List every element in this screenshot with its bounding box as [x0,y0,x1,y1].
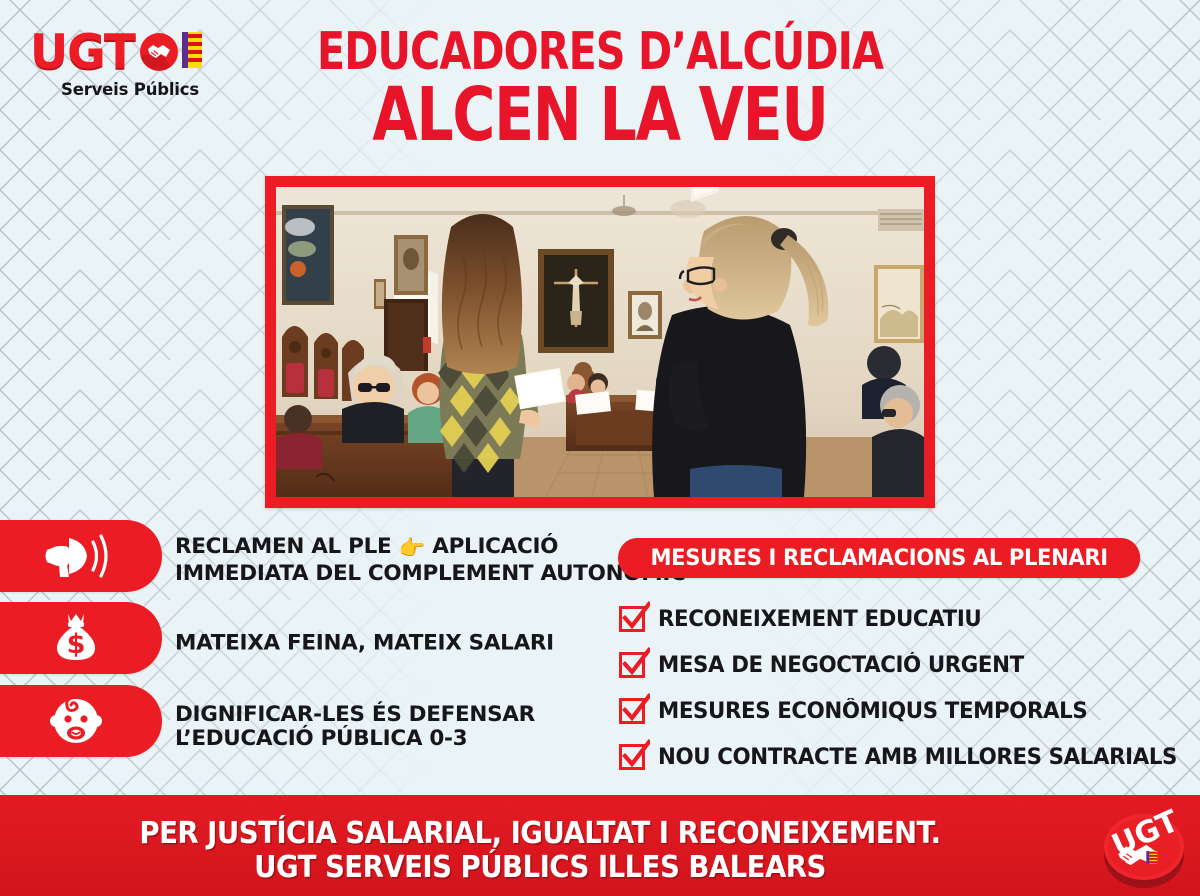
footer-band: PER JUSTÍCIA SALARIAL, IGUALTAT I RECONE… [0,795,1200,896]
demand-text: DIGNIFICAR-LES ÉS DEFENSAR L’EDUCACIÓ PÚ… [175,703,535,753]
measure-label: RECONEIXEMENT EDUCATIU [658,607,981,632]
demands-list: RECLAMEN AL PLE 👉 APLICACIÓ IMMEDIATA DE… [0,520,600,770]
megaphone-icon [41,528,111,585]
svg-text:$: $ [67,629,86,660]
ugt-logo: UGT [30,26,230,108]
demand-line-1b: APLICACIÓ [425,534,558,559]
measure-label: MESA DE NEGOCTACIÓ URGENT [658,653,1024,678]
headline: EDUCADORES D’ALCÚDIA ALCEN LA VEU [250,28,950,151]
demand-line-2: L’EDUCACIÓ PÚBLICA 0-3 [175,727,467,752]
ugt-wordmark: UGT [30,29,135,76]
checkbox-checked-icon[interactable] [618,739,658,776]
pointing-hand-icon: 👉 [399,537,425,562]
balearic-flag-icon [182,32,202,73]
demand-text: RECLAMEN AL PLE 👉 APLICACIÓ IMMEDIATA DE… [175,535,686,587]
logo-row: UGT [30,26,230,78]
footer-line-1: PER JUSTÍCIA SALARIAL, IGUALTAT I RECONE… [43,817,1037,851]
checkbox-checked-icon[interactable] [618,693,658,730]
handshake-icon [139,32,179,72]
photo-illustration [276,187,924,497]
measures-header: MESURES I RECLAMACIONS AL PLENARI [618,538,1140,578]
photo-frame [265,176,935,508]
measure-item[interactable]: MESURES ECONÔMIQUS TEMPORALS [618,688,1183,734]
demand-item: RECLAMEN AL PLE 👉 APLICACIÓ IMMEDIATA DE… [0,520,600,602]
footer-line-2: UGT SERVEIS PÚBLICS ILLES BALEARS [43,851,1037,885]
measure-label: MESURES ECONÔMIQUS TEMPORALS [658,699,1087,724]
ugt-coin-badge-icon: UGT [1096,801,1192,893]
checkbox-checked-icon[interactable] [618,601,658,638]
checkbox-checked-icon[interactable] [618,647,658,684]
measure-label: NOU CONTRACTE AMB MILLORES SALARIALS [658,745,1177,770]
logo-subtitle: Serveis Públics [30,80,230,99]
money-bag-icon: $ [48,608,104,669]
demand-text: MATEIXA FEINA, MATEIX SALARI [175,631,554,656]
headline-line-1: EDUCADORES D’ALCÚDIA [292,28,908,78]
demand-line-2: IMMEDIATA DEL COMPLEMENT AUTONÔMIC [175,561,686,586]
demand-line-1a: RECLAMEN AL PLE [175,534,399,559]
demand-line-1a: DIGNIFICAR-LES ÉS DEFENSAR [175,702,535,727]
measures-list: RECONEIXEMENT EDUCATIU MESA DE NEGOCTACI… [618,596,1183,780]
measure-item[interactable]: MESA DE NEGOCTACIÓ URGENT [618,642,1183,688]
measure-item[interactable]: RECONEIXEMENT EDUCATIU [618,596,1183,642]
demand-item: $ MATEIXA FEINA, MATEIX SALARI [0,602,600,685]
measure-item[interactable]: NOU CONTRACTE AMB MILLORES SALARIALS [618,734,1183,780]
demand-item: DIGNIFICAR-LES ÉS DEFENSAR L’EDUCACIÓ PÚ… [0,685,600,770]
demand-icon-pill: $ [0,602,162,674]
measures-panel: MESURES I RECLAMACIONS AL PLENARI RECONE… [618,538,1183,780]
plenary-photo [276,187,924,497]
demand-icon-pill [0,520,162,592]
headline-line-2: ALCEN LA VEU [292,80,908,151]
poster-canvas: UGT [0,0,1200,896]
demand-line-1a: MATEIXA FEINA, MATEIX SALARI [175,630,554,655]
footer-slogan: PER JUSTÍCIA SALARIAL, IGUALTAT I RECONE… [0,817,1080,884]
demand-icon-pill [0,685,162,757]
baby-face-icon [46,691,106,752]
